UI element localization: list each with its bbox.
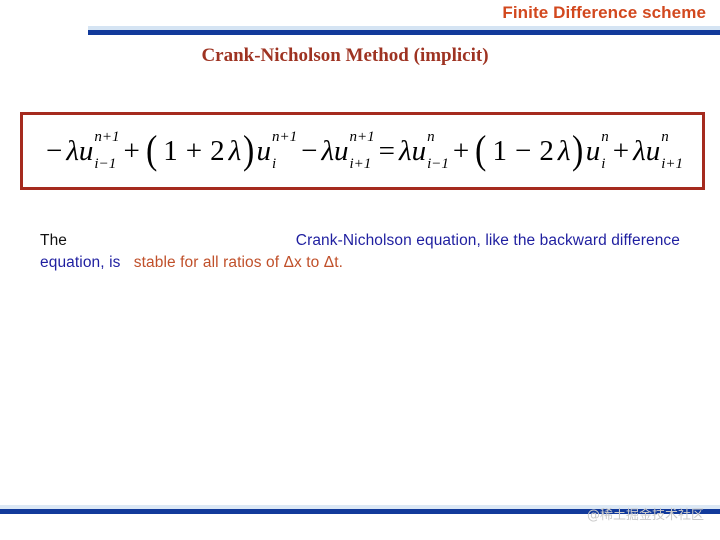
eq-paren-close-1: ) xyxy=(243,130,254,170)
eq-plus-3: + xyxy=(453,137,469,166)
eq-paren-open-1: ( xyxy=(146,130,157,170)
eq-sup-6: n xyxy=(661,130,683,145)
eq-term-lambda-u-im1-n: λ u n i−1 xyxy=(399,135,449,168)
eq-sup-1: n+1 xyxy=(94,130,119,145)
eq-plus-2: + xyxy=(186,137,202,166)
eq-lambda-1: λ xyxy=(66,137,79,166)
eq-indices-2: n+1 i xyxy=(272,135,297,168)
eq-indices-1: n+1 i−1 xyxy=(94,135,119,168)
eq-sup-2: n+1 xyxy=(272,130,297,145)
eq-sub-3: i+1 xyxy=(350,157,375,172)
eq-minus-1: − xyxy=(46,137,62,166)
eq-indices-4: n i−1 xyxy=(427,135,449,168)
eq-term-lambda-u-ip1-n: λ u n i+1 xyxy=(633,135,683,168)
eq-minus-3: − xyxy=(515,137,531,166)
eq-plus-1: + xyxy=(124,137,140,166)
eq-indices-3: n+1 i+1 xyxy=(350,135,375,168)
slide-subtitle: Crank-Nicholson Method (implicit) xyxy=(0,45,690,67)
body-line-1: The Crank-Nicholson equation, like the b… xyxy=(40,230,680,252)
header-divider xyxy=(88,26,720,35)
eq-term-lambda-u-ip1-np1: λ u n+1 i+1 xyxy=(321,135,374,168)
eq-sup-4: n xyxy=(427,130,449,145)
eq-equals: = xyxy=(379,137,395,166)
eq-two-2: 2 xyxy=(539,137,554,166)
eq-paren-open-2: ( xyxy=(475,130,486,170)
eq-lambda-4: λ xyxy=(399,137,412,166)
eq-term-lambda-u-im1-np1: λ u n+1 i−1 xyxy=(66,135,119,168)
eq-sub-2: i xyxy=(272,157,297,172)
eq-sub-1: i−1 xyxy=(94,157,119,172)
body-line1-blue-segment: Crank-Nicholson equation, like the backw… xyxy=(296,230,680,252)
eq-u-6: u xyxy=(646,137,661,166)
eq-lambda-6: λ xyxy=(633,137,646,166)
eq-lambda-3: λ xyxy=(321,137,334,166)
eq-plus-4: + xyxy=(613,137,629,166)
eq-lambda-5: λ xyxy=(558,137,571,166)
body-paragraph: The Crank-Nicholson equation, like the b… xyxy=(40,230,680,274)
eq-minus-2: − xyxy=(301,137,317,166)
body-line2-blue-segment: equation, is xyxy=(40,254,120,271)
body-line1-black-segment: The xyxy=(40,230,67,252)
eq-u-5: u xyxy=(586,137,601,166)
slide-header: Finite Difference scheme xyxy=(0,0,720,40)
eq-paren-close-2: ) xyxy=(572,130,583,170)
eq-indices-5: n i xyxy=(601,135,609,168)
eq-u-4: u xyxy=(412,137,427,166)
eq-u-1: u xyxy=(79,137,94,166)
header-divider-dark-band xyxy=(88,30,720,35)
eq-indices-6: n i+1 xyxy=(661,135,683,168)
equation-box: − λ u n+1 i−1 + ( 1 + 2 λ ) u n+1 i − λ … xyxy=(20,112,705,190)
eq-sub-4: i−1 xyxy=(427,157,449,172)
eq-u-2: u xyxy=(256,137,271,166)
eq-term-u-i-n: u n i xyxy=(586,135,609,168)
eq-two-1: 2 xyxy=(210,137,225,166)
eq-sub-6: i+1 xyxy=(661,157,683,172)
finite-difference-equation: − λ u n+1 i−1 + ( 1 + 2 λ ) u n+1 i − λ … xyxy=(42,131,683,171)
body-line2-red-segment: stable for all ratios of Δx to Δt. xyxy=(134,254,343,271)
eq-sup-5: n xyxy=(601,130,609,145)
eq-u-3: u xyxy=(334,137,349,166)
eq-term-u-i-np1: u n+1 i xyxy=(256,135,297,168)
page-title: Finite Difference scheme xyxy=(502,3,706,23)
eq-sup-3: n+1 xyxy=(350,130,375,145)
eq-sub-5: i xyxy=(601,157,609,172)
eq-one-2: 1 xyxy=(493,137,508,166)
body-line-2: equation, is stable for all ratios of Δx… xyxy=(40,252,680,274)
eq-lambda-2: λ xyxy=(229,137,242,166)
watermark: @稀土掘金技术社区 xyxy=(587,504,704,523)
eq-one-1: 1 xyxy=(163,137,178,166)
